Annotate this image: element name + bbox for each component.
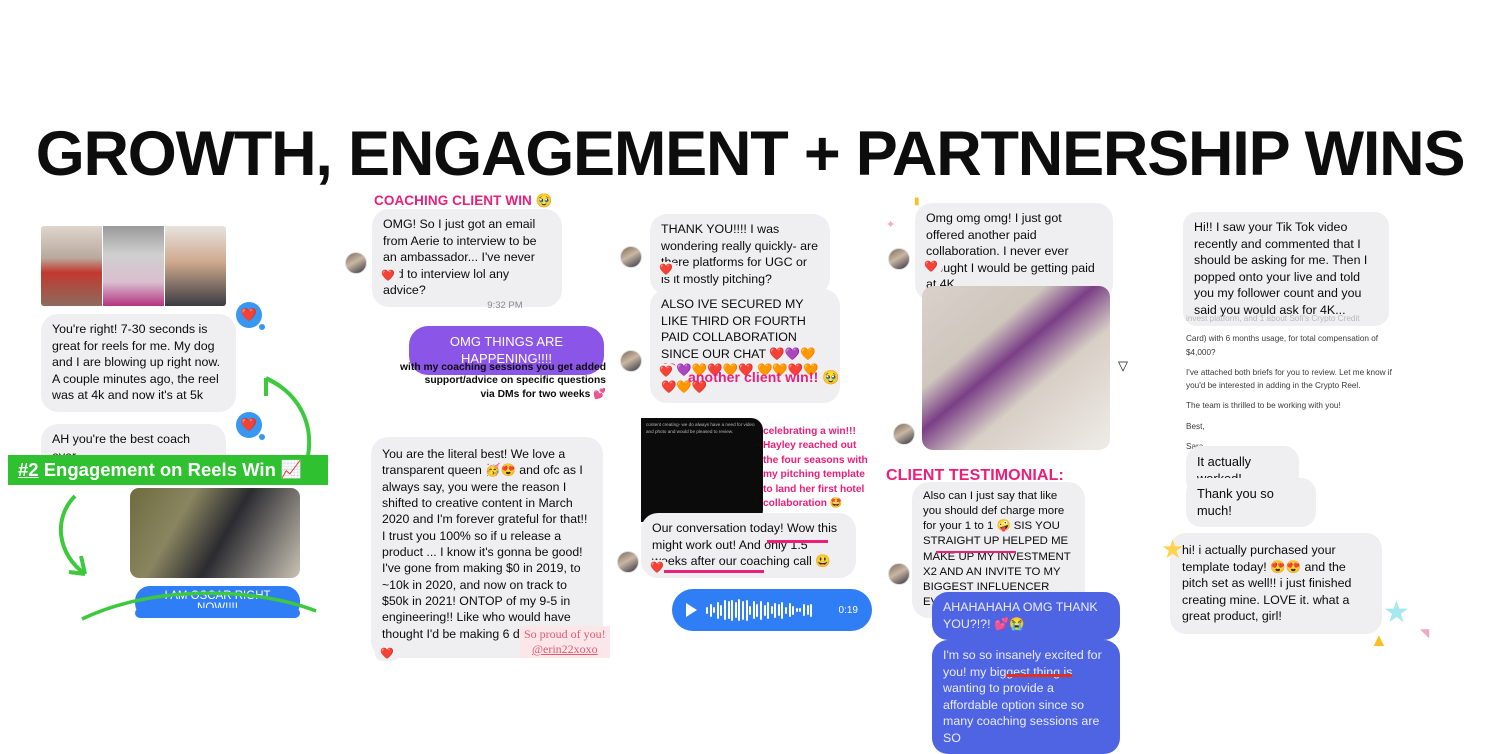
- photo-strip: [41, 226, 226, 306]
- message-bubble: AHAHAHAHA OMG THANK YOU?!?! 💕😭: [932, 592, 1120, 640]
- chat-bubble-group: Our conversation today! Wow this might w…: [641, 513, 856, 578]
- sent-message-group: AHAHAHAHA OMG THANK YOU?!?! 💕😭: [932, 592, 1120, 640]
- email-paragraph: I've attached both briefs for you to rev…: [1186, 366, 1406, 393]
- celebrate-annotation: celebrating a win!!! Hayley reached out …: [763, 425, 873, 512]
- message-bubble: I'm so so insanely excited for you! my b…: [932, 640, 1120, 754]
- email-line-faded: invest platform, and 1 about Sofi's Cryp…: [1186, 312, 1406, 325]
- avatar: [888, 248, 910, 270]
- email-signoff: Best,: [1186, 420, 1406, 433]
- message-bubble: hi! i actually purchased your template t…: [1170, 533, 1382, 634]
- banner-label: Engagement on Reels Win: [44, 459, 276, 480]
- pink-underline-mark: [936, 551, 1016, 553]
- heart-reaction-icon: ❤️: [236, 302, 262, 328]
- photo-2: [103, 226, 164, 306]
- caption-line: with my coaching sessions you get added: [374, 361, 606, 374]
- timestamp: 9:32 PM: [430, 300, 580, 311]
- star-icon: ★: [1161, 534, 1184, 565]
- sparkle-icon: ▮: [914, 196, 920, 207]
- photo-1: [41, 226, 102, 306]
- audio-message-player[interactable]: 0:19: [672, 589, 872, 631]
- office-celebration-gif: [130, 488, 300, 578]
- avatar: [620, 246, 642, 268]
- coaching-clients-banner: C♡ACHING CLIENTS: [0, 0, 504, 3]
- avatar: [620, 350, 642, 372]
- chat-bubble-group: You are the literal best! We love a tran…: [371, 437, 603, 658]
- sticker-handle: @erin22xoxo: [532, 642, 598, 656]
- message-bubble: THANK YOU!!!! I was wondering really qui…: [650, 214, 830, 295]
- message-bubble: Hi!! I saw your Tik Tok video recently a…: [1183, 212, 1389, 326]
- email-paragraph: The team is thrilled to be working with …: [1186, 399, 1406, 412]
- avatar: [888, 563, 910, 585]
- red-underline-mark: [1006, 674, 1072, 677]
- poster-canvas: C♡ACHING CLIENTS GROWTH, ENGAGEMENT + PA…: [0, 0, 1500, 719]
- banner-text-line: #2 Engagement on Reels Win: [18, 459, 276, 481]
- pink-underline-mark: [664, 570, 764, 573]
- green-arrow-up-icon: [236, 360, 316, 460]
- chat-bubble-group: Hi!! I saw your Tik Tok video recently a…: [1183, 212, 1389, 326]
- sparkle-icon: ◥: [1420, 626, 1429, 640]
- pitch-email-screenshot: content creating- we do always have a ne…: [641, 418, 763, 522]
- message-bubble: You're right! 7-30 seconds is great for …: [41, 314, 236, 412]
- star-icon: ★: [1383, 595, 1410, 630]
- audio-duration: 0:19: [839, 605, 858, 616]
- avatar: [893, 423, 915, 445]
- sticker-so-proud: So proud of you! @erin22xoxo: [520, 626, 610, 658]
- testimonial-bubble: You are the literal best! We love a tran…: [371, 437, 603, 658]
- engagement-win-banner: #2 Engagement on Reels Win 📈: [8, 455, 328, 485]
- chat-bubble-group: THANK YOU!!!! I was wondering really qui…: [650, 214, 830, 295]
- waveform[interactable]: [706, 599, 830, 621]
- avatar: [617, 551, 639, 573]
- heart-reaction-icon: ❤️: [375, 646, 399, 661]
- heart-reaction-icon: ❤️: [654, 364, 678, 379]
- pink-underline-mark: [767, 540, 828, 543]
- another-client-win-label: another client win!! 🥹: [688, 369, 840, 386]
- chat-bubble-group: Thank you so much!: [1186, 478, 1316, 527]
- sparkle-icon: ▲: [1370, 630, 1388, 651]
- green-underline-swoosh-icon: [78, 583, 328, 625]
- photo-3: [165, 226, 226, 306]
- sent-message-group: I'm so so insanely excited for you! my b…: [932, 640, 1120, 754]
- chart-up-icon: 📈: [281, 460, 302, 480]
- section-title-coaching-client-win: COACHING CLIENT WIN 🥹: [374, 193, 553, 209]
- heart-reaction-icon: ❤️: [654, 262, 678, 277]
- sparkle-icon: ✦: [886, 218, 895, 231]
- chat-bubble-group: hi! i actually purchased your template t…: [1170, 533, 1382, 634]
- rachel-celebration-gif: [922, 286, 1110, 450]
- page-title: GROWTH, ENGAGEMENT + PARTNERSHIP WINS: [0, 118, 1500, 190]
- avatar: [345, 252, 367, 274]
- banner-number: #2: [18, 459, 39, 480]
- annotation-caption: with my coaching sessions you get added …: [374, 361, 606, 401]
- send-icon[interactable]: ▽: [1118, 358, 1128, 374]
- message-bubble: Our conversation today! Wow this might w…: [641, 513, 856, 578]
- caption-line: support/advice on specific questions: [374, 374, 606, 387]
- email-paragraph: Card) with 6 months usage, for total com…: [1186, 332, 1406, 359]
- message-bubble: OMG! So I just got an email from Aerie t…: [372, 209, 562, 307]
- heart-reaction-icon: ❤️: [919, 259, 943, 274]
- heart-reaction-icon: ❤️: [376, 268, 400, 283]
- caption-line: via DMs for two weeks 💕: [374, 388, 606, 401]
- message-bubble: Thank you so much!: [1186, 478, 1316, 527]
- sticker-line: So proud of you!: [524, 627, 606, 642]
- play-icon[interactable]: [686, 603, 697, 617]
- chat-bubble-group: OMG! So I just got an email from Aerie t…: [372, 209, 562, 307]
- chat-bubble-group: You're right! 7-30 seconds is great for …: [41, 314, 236, 412]
